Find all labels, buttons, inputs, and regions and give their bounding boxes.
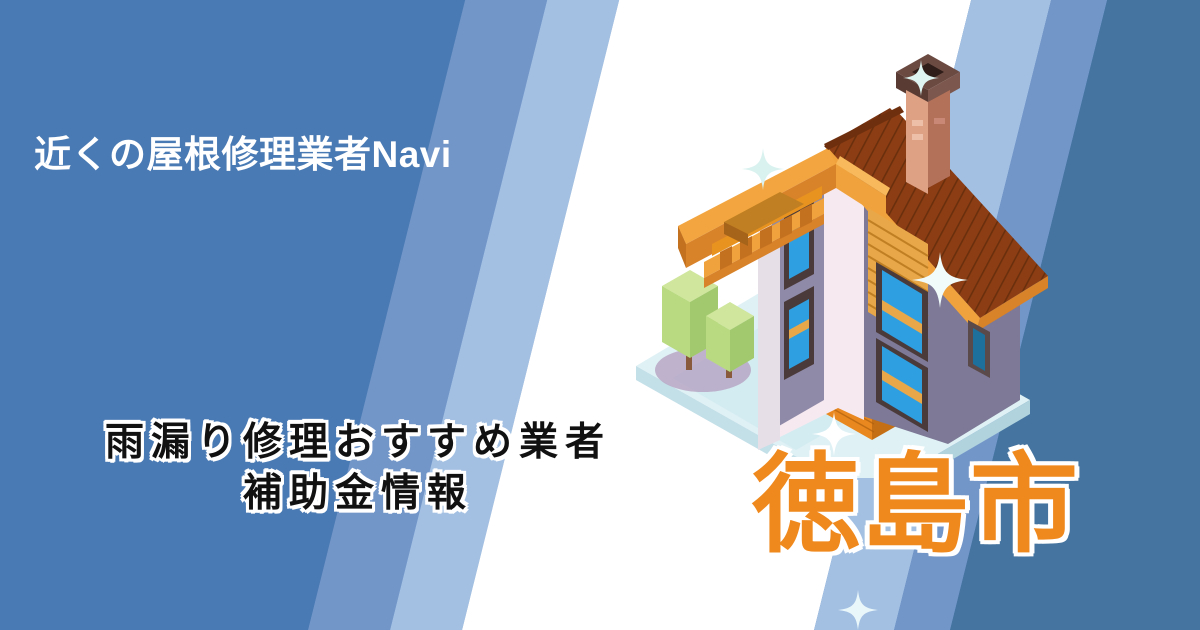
- banner-canvas: 近くの屋根修理業者Navi 雨漏り修理おすすめ業者 補助金情報 徳島市: [0, 0, 1200, 630]
- city-name-badge: 徳島市: [752, 448, 1079, 561]
- headline-block: 雨漏り修理おすすめ業者 補助金情報: [0, 418, 716, 519]
- sparkle-upper-left: [742, 148, 784, 195]
- sparkle-bottom: [838, 590, 878, 630]
- site-title: 近くの屋根修理業者Navi: [34, 133, 452, 177]
- tree-group: [655, 270, 754, 392]
- sparkle-roof: [912, 252, 968, 313]
- headline-line-1: 雨漏り修理おすすめ業者: [0, 418, 716, 469]
- headline-line-2: 補助金情報: [0, 469, 716, 520]
- sparkle-top-right: [903, 60, 939, 101]
